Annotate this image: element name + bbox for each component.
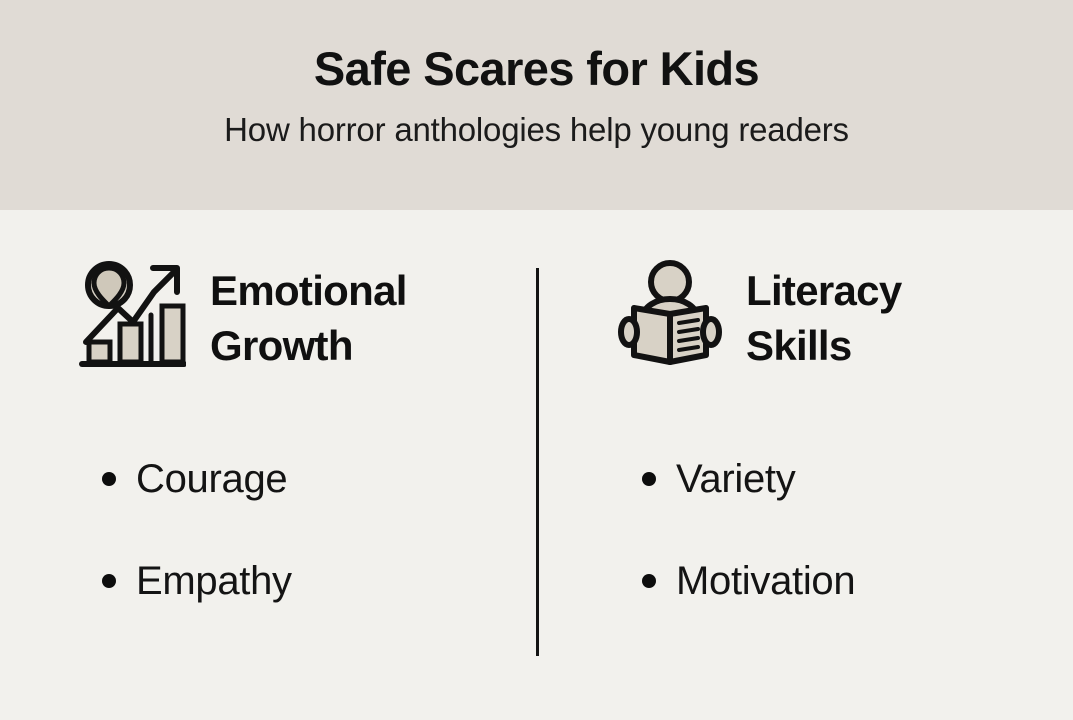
page-title: Safe Scares for Kids — [314, 44, 759, 93]
list-item: Courage — [78, 459, 512, 499]
bullet-dot-icon — [102, 574, 116, 588]
list-item: Empathy — [78, 561, 512, 601]
bullet-dot-icon — [102, 472, 116, 486]
column-divider — [536, 268, 539, 656]
bullet-list-literacy-skills: Variety Motivation — [618, 459, 1048, 601]
header-band: Safe Scares for Kids How horror antholog… — [0, 0, 1073, 210]
person-reading-book-icon — [618, 258, 722, 370]
bullet-list-emotional-growth: Courage Empathy — [78, 459, 512, 601]
bullet-label: Empathy — [136, 561, 292, 601]
bullet-dot-icon — [642, 472, 656, 486]
infographic-poster: Safe Scares for Kids How horror antholog… — [0, 0, 1073, 720]
bullet-label: Courage — [136, 459, 287, 499]
growth-chart-icon — [78, 258, 186, 370]
column-literacy-skills: Literacy Skills Variety Motivation — [536, 210, 1072, 601]
content-area: Emotional Growth Courage Empathy — [0, 210, 1073, 720]
bullet-label: Variety — [676, 459, 795, 499]
column-header-emotional-growth: Emotional Growth — [78, 258, 512, 373]
list-item: Motivation — [618, 561, 1048, 601]
column-header-literacy-skills: Literacy Skills — [618, 258, 1048, 373]
column-title-emotional-growth: Emotional Growth — [210, 258, 480, 373]
page-subtitle: How horror anthologies help young reader… — [224, 112, 849, 148]
bullet-dot-icon — [642, 574, 656, 588]
list-item: Variety — [618, 459, 1048, 499]
column-title-literacy-skills: Literacy Skills — [746, 258, 1016, 373]
column-emotional-growth: Emotional Growth Courage Empathy — [0, 210, 536, 601]
bullet-label: Motivation — [676, 561, 855, 601]
